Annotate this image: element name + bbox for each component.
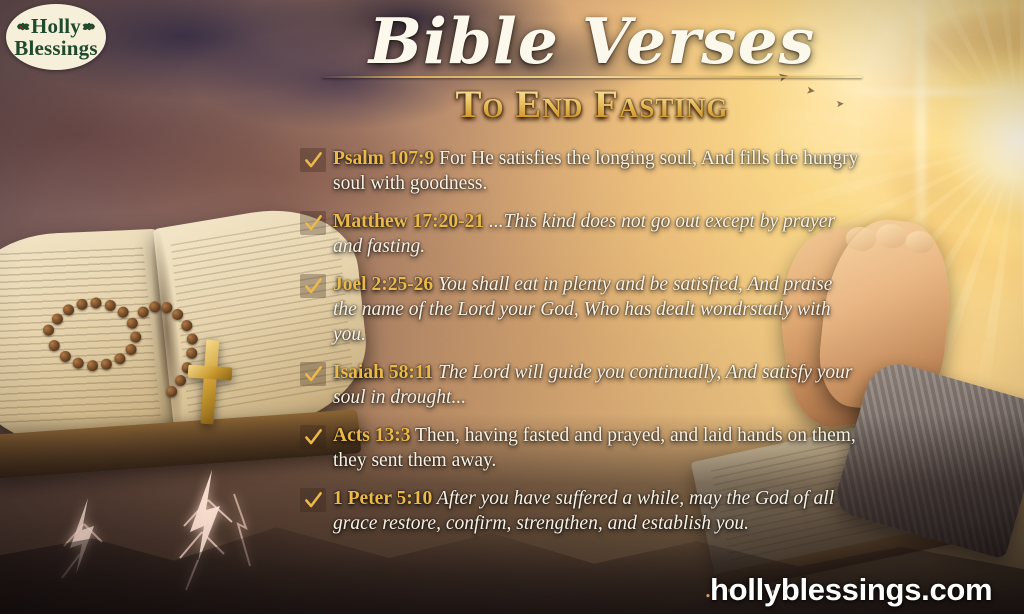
verse-item: Joel 2:25-26 You shall eat in plenty and… — [300, 272, 860, 347]
verse-text: 1 Peter 5:10 After you have suffered a w… — [333, 486, 860, 536]
verse-reference: Joel 2:25-26 — [333, 274, 433, 295]
checkmark-icon — [300, 362, 326, 386]
checkmark-icon — [300, 211, 326, 235]
poster-content: Holly Blessings Bible Verses To End Fast… — [0, 0, 1024, 614]
checkmark-icon — [300, 425, 326, 449]
verse-reference: Psalm 107:9 — [333, 148, 434, 169]
logo-line-1: Holly — [16, 16, 96, 37]
website-url[interactable]: hollyblessings.com — [710, 572, 992, 608]
verse-item: Matthew 17:20-21 ...This kind does not g… — [300, 209, 860, 259]
verse-list: Psalm 107:9 For He satisfies the longing… — [300, 146, 860, 549]
verse-item: Psalm 107:9 For He satisfies the longing… — [300, 146, 860, 196]
verse-text: Isaiah 58:11 The Lord will guide you con… — [333, 360, 860, 410]
logo-line-2: Blessings — [14, 37, 98, 59]
title-block: Bible Verses To End Fasting — [312, 8, 872, 127]
logo-text-holly: Holly — [31, 16, 81, 37]
verse-item: 1 Peter 5:10 After you have suffered a w… — [300, 486, 860, 536]
checkmark-icon — [300, 488, 326, 512]
page-title: Bible Verses — [312, 8, 872, 74]
checkmark-icon — [300, 274, 326, 298]
holly-leaf-icon — [16, 21, 31, 32]
holly-blessings-logo[interactable]: Holly Blessings — [6, 4, 106, 70]
verse-body: Then, having fasted and prayed, and laid… — [333, 425, 856, 471]
logo-text-blessings: Blessings — [14, 38, 98, 59]
verse-text: Acts 13:3 Then, having fasted and prayed… — [333, 423, 860, 473]
verse-reference: Matthew 17:20-21 — [333, 211, 484, 232]
verse-item: Acts 13:3 Then, having fasted and prayed… — [300, 423, 860, 473]
verse-reference: Acts 13:3 — [333, 425, 410, 446]
checkmark-icon — [300, 148, 326, 172]
poster-canvas: ➤ ➤ ➤ — [0, 0, 1024, 614]
verse-text: Psalm 107:9 For He satisfies the longing… — [333, 146, 860, 196]
verse-text: Joel 2:25-26 You shall eat in plenty and… — [333, 272, 860, 347]
verse-reference: Isaiah 58:11 — [333, 362, 433, 383]
holly-leaf-icon — [81, 21, 96, 32]
page-subtitle: To End Fasting — [312, 82, 872, 127]
verse-item: Isaiah 58:11 The Lord will guide you con… — [300, 360, 860, 410]
verse-text: Matthew 17:20-21 ...This kind does not g… — [333, 209, 860, 259]
verse-reference: 1 Peter 5:10 — [333, 488, 432, 509]
